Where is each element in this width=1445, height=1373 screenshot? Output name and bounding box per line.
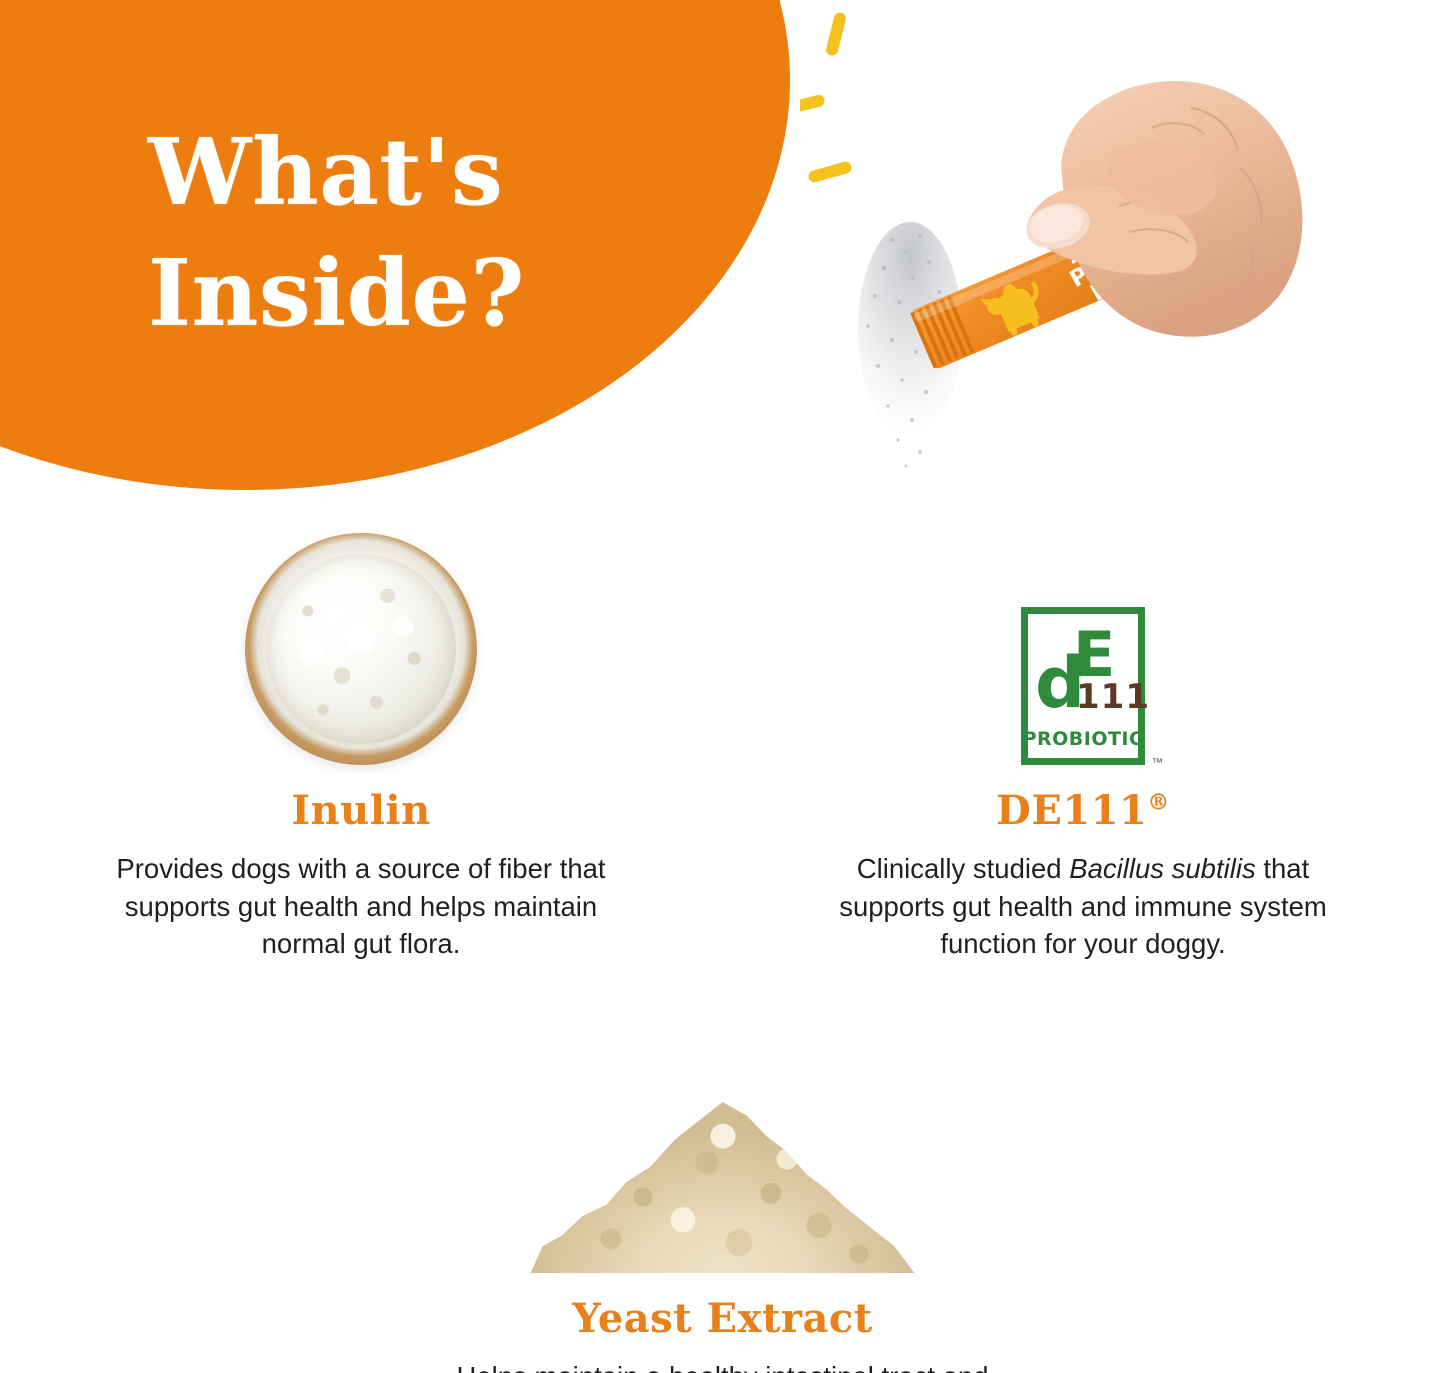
- sparkle-icon: [800, 11, 853, 184]
- hand-holding-packet-illustration: Zesty Paws Probiotic Powder Digestive He…: [800, 0, 1360, 520]
- registered-mark-icon: ®: [1147, 790, 1170, 816]
- ingredients-section: Inulin Provides dogs with a source of fi…: [0, 515, 1445, 1373]
- trademark-icon: ™: [1152, 757, 1163, 769]
- ingredient-title-de111: DE111®: [996, 787, 1170, 834]
- ingredient-description-inulin: Provides dogs with a source of fiber tha…: [101, 850, 621, 963]
- ingredients-row-top: Inulin Provides dogs with a source of fi…: [0, 515, 1445, 963]
- ingredient-title-yeast-extract: Yeast Extract: [572, 1295, 873, 1342]
- de111-letterform: d E 111: [1031, 622, 1135, 726]
- infographic-page: What's Inside?: [0, 0, 1445, 1373]
- yeast-extract-art: [0, 1023, 1445, 1273]
- ingredient-title-de111-text: DE111: [996, 787, 1147, 834]
- ingredient-description-de111: Clinically studied Bacillus subtilis tha…: [823, 850, 1343, 963]
- species-name-italic: Bacillus subtilis: [1069, 853, 1255, 884]
- powder-texture: [523, 1083, 923, 1273]
- de111-art: d E 111 PROBIOTIC ™: [722, 515, 1444, 765]
- de111-probiotic-logo: d E 111 PROBIOTIC: [1021, 607, 1145, 765]
- desc-part-before: Clinically studied: [857, 853, 1069, 884]
- ingredient-description-yeast-extract: Helps maintain a healthy intestinal trac…: [443, 1358, 1003, 1373]
- page-title: What's Inside?: [148, 112, 525, 355]
- de111-number: 111: [1076, 680, 1150, 714]
- ingredients-row-bottom: Yeast Extract Helps maintain a healthy i…: [0, 1023, 1445, 1373]
- bowl-of-inulin-powder-image: [245, 533, 477, 765]
- ingredient-card-de111: d E 111 PROBIOTIC ™ DE111®: [722, 515, 1444, 963]
- inulin-art: [0, 515, 722, 765]
- de111-logo-wrapper: d E 111 PROBIOTIC ™: [1021, 607, 1145, 765]
- ingredient-title-inulin: Inulin: [291, 787, 430, 834]
- ingredient-card-yeast-extract: Yeast Extract Helps maintain a healthy i…: [0, 1023, 1445, 1373]
- de111-word-probiotic: PROBIOTIC: [1023, 728, 1144, 750]
- powder-texture: [266, 554, 456, 744]
- yeast-extract-powder-image: [523, 1073, 923, 1273]
- ingredient-card-inulin: Inulin Provides dogs with a source of fi…: [0, 515, 722, 963]
